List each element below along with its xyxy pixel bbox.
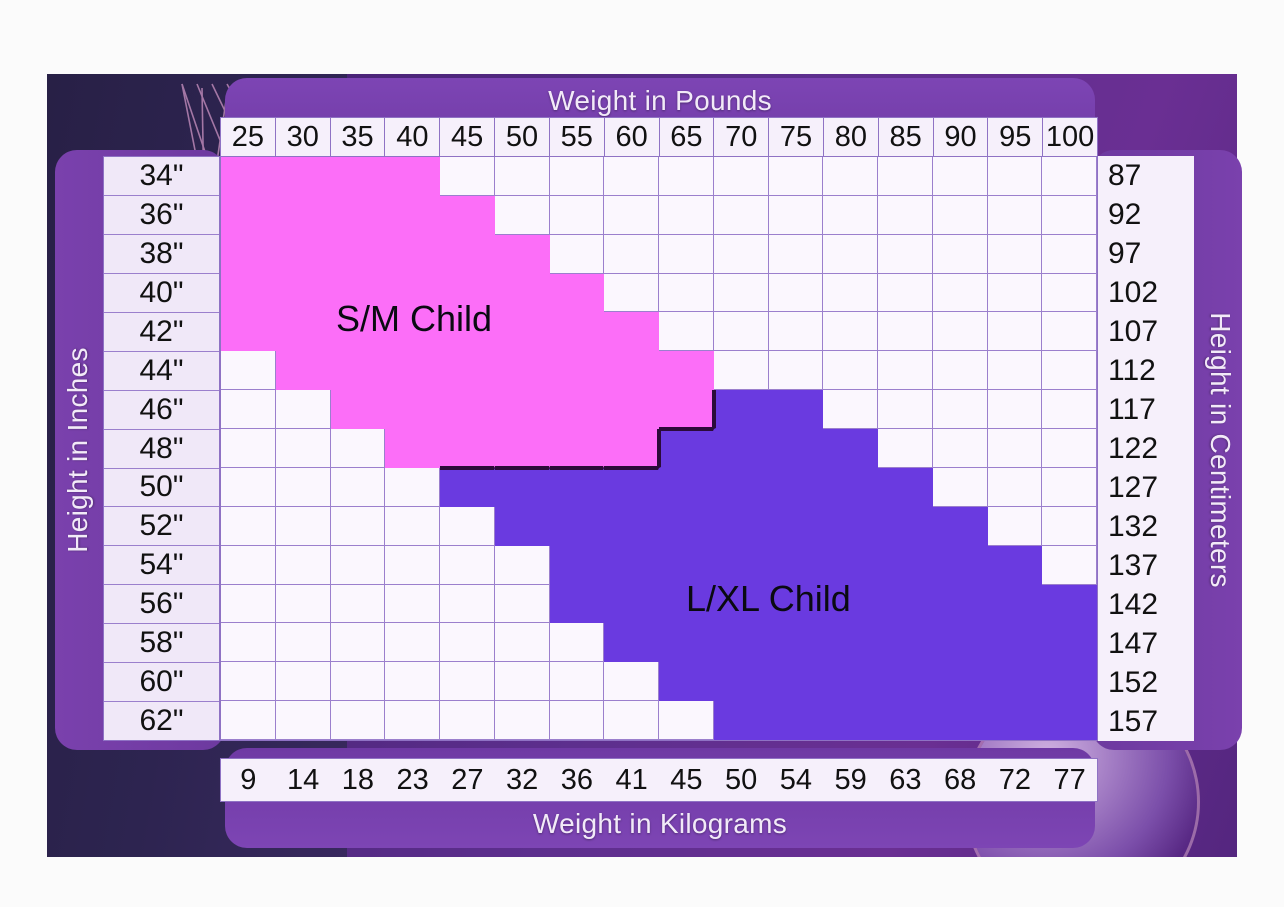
grid-cell-empty xyxy=(331,662,386,701)
bottom-axis-title: Weight in Kilograms xyxy=(225,802,1095,846)
grid-cell-small-medium xyxy=(659,351,714,390)
grid-cell-empty xyxy=(1042,390,1097,429)
pounds-tick: 45 xyxy=(440,118,495,156)
grid-cell-empty xyxy=(769,157,824,196)
grid-cell-empty xyxy=(933,235,988,274)
grid-cell-small-medium xyxy=(604,312,659,351)
grid-cell-small-medium xyxy=(550,274,605,313)
centimeters-tick: 122 xyxy=(1098,429,1194,468)
grid-cell-large-xlarge xyxy=(823,623,878,662)
grid-cell-large-xlarge xyxy=(823,662,878,701)
pounds-tick: 35 xyxy=(331,118,386,156)
grid-cell-empty xyxy=(714,196,769,235)
grid-cell-large-xlarge xyxy=(769,468,824,507)
grid-cell-small-medium xyxy=(221,157,276,196)
grid-cell-large-xlarge xyxy=(604,507,659,546)
grid-cell-large-xlarge xyxy=(659,585,714,624)
grid-cell-large-xlarge xyxy=(988,623,1043,662)
grid-cell-empty xyxy=(440,585,495,624)
grid-cell-large-xlarge xyxy=(714,468,769,507)
grid-cell-small-medium xyxy=(495,274,550,313)
grid-cell-empty xyxy=(276,390,331,429)
pounds-tick: 50 xyxy=(495,118,550,156)
inches-tick: 44" xyxy=(104,352,219,391)
grid-cell-empty xyxy=(659,701,714,740)
grid-cell-empty xyxy=(440,507,495,546)
grid-cell-small-medium xyxy=(440,274,495,313)
grid-cell-empty xyxy=(823,390,878,429)
grid-cell-empty xyxy=(440,157,495,196)
grid-cell-large-xlarge xyxy=(823,429,878,468)
grid-cell-empty xyxy=(823,235,878,274)
grid-cell-empty xyxy=(1042,235,1097,274)
kilograms-tick: 41 xyxy=(604,759,659,801)
centimeters-tick: 147 xyxy=(1098,624,1194,663)
grid-cell-large-xlarge xyxy=(988,546,1043,585)
grid-cell-small-medium xyxy=(440,312,495,351)
grid-cell-large-xlarge xyxy=(714,546,769,585)
grid-cell-empty xyxy=(276,507,331,546)
grid-cell-empty xyxy=(331,546,386,585)
grid-cell-large-xlarge xyxy=(878,507,933,546)
grid-cell-empty xyxy=(550,196,605,235)
grid-cell-empty xyxy=(878,235,933,274)
centimeters-tick: 102 xyxy=(1098,273,1194,312)
grid-cell-empty xyxy=(276,662,331,701)
right-axis-title: Height in Centimeters xyxy=(1200,230,1240,670)
grid-cell-empty xyxy=(385,662,440,701)
grid-cell-empty xyxy=(988,196,1043,235)
grid-cell-empty xyxy=(550,701,605,740)
grid-cell-empty xyxy=(1042,546,1097,585)
grid-cell-large-xlarge xyxy=(878,623,933,662)
grid-cell-large-xlarge xyxy=(604,623,659,662)
grid-cell-small-medium xyxy=(495,390,550,429)
grid-cell-empty xyxy=(1042,468,1097,507)
grid-cell-small-medium xyxy=(385,351,440,390)
grid-cell-small-medium xyxy=(604,390,659,429)
kilograms-tick: 27 xyxy=(440,759,495,801)
grid-cell-empty xyxy=(221,623,276,662)
inches-tick: 38" xyxy=(104,235,219,274)
grid-cell-large-xlarge xyxy=(659,662,714,701)
grid-cell-empty xyxy=(714,312,769,351)
grid-cell-large-xlarge xyxy=(769,701,824,740)
grid-cell-small-medium xyxy=(385,312,440,351)
grid-cell-empty xyxy=(440,662,495,701)
pounds-tick: 40 xyxy=(385,118,440,156)
pounds-tick: 60 xyxy=(605,118,660,156)
kilograms-footer-row: 9141823273236414550545963687277 xyxy=(220,758,1098,802)
grid-cell-small-medium xyxy=(276,351,331,390)
grid-cell-small-medium xyxy=(604,429,659,468)
grid-cell-empty xyxy=(823,351,878,390)
grid-cell-empty xyxy=(495,585,550,624)
pounds-tick: 55 xyxy=(550,118,605,156)
grid-cell-small-medium xyxy=(495,351,550,390)
grid-cell-large-xlarge xyxy=(823,507,878,546)
kilograms-tick: 14 xyxy=(276,759,331,801)
grid-cell-empty xyxy=(933,157,988,196)
grid-cell-empty xyxy=(823,157,878,196)
grid-cell-empty xyxy=(1042,196,1097,235)
grid-cell-large-xlarge xyxy=(714,701,769,740)
grid-cell-large-xlarge xyxy=(714,662,769,701)
grid-cell-empty xyxy=(440,623,495,662)
inches-tick: 56" xyxy=(104,585,219,624)
grid-cell-small-medium xyxy=(276,274,331,313)
grid-cell-large-xlarge xyxy=(769,585,824,624)
grid-cell-large-xlarge xyxy=(604,468,659,507)
grid-cell-empty xyxy=(385,623,440,662)
grid-cell-large-xlarge xyxy=(659,468,714,507)
grid-cell-large-xlarge xyxy=(714,623,769,662)
pounds-tick: 80 xyxy=(824,118,879,156)
inches-tick: 40" xyxy=(104,274,219,313)
grid-cell-small-medium xyxy=(440,235,495,274)
grid-cell-empty xyxy=(878,429,933,468)
grid-cell-empty xyxy=(659,274,714,313)
grid-cell-empty xyxy=(331,429,386,468)
grid-cell-large-xlarge xyxy=(933,623,988,662)
grid-cell-empty xyxy=(988,468,1043,507)
grid-cell-empty xyxy=(385,585,440,624)
kilograms-tick: 72 xyxy=(988,759,1043,801)
inches-tick: 50" xyxy=(104,469,219,508)
centimeters-tick: 152 xyxy=(1098,663,1194,702)
grid-cell-large-xlarge xyxy=(988,585,1043,624)
grid-cell-large-xlarge xyxy=(769,546,824,585)
grid-cell-large-xlarge xyxy=(659,623,714,662)
grid-cell-empty xyxy=(659,196,714,235)
grid-cell-large-xlarge xyxy=(550,585,605,624)
centimeters-tick: 87 xyxy=(1098,156,1194,195)
grid-cell-small-medium xyxy=(385,390,440,429)
grid-cell-small-medium xyxy=(331,351,386,390)
grid-cell-empty xyxy=(933,351,988,390)
grid-cell-empty xyxy=(714,235,769,274)
centimeters-tick: 97 xyxy=(1098,234,1194,273)
grid-cell-large-xlarge xyxy=(878,468,933,507)
grid-cell-large-xlarge xyxy=(604,585,659,624)
inches-tick: 48" xyxy=(104,430,219,469)
grid-cell-empty xyxy=(221,429,276,468)
centimeters-tick: 137 xyxy=(1098,546,1194,585)
grid-cell-small-medium xyxy=(440,196,495,235)
grid-cell-empty xyxy=(1042,351,1097,390)
grid-cell-empty xyxy=(659,157,714,196)
grid-cell-large-xlarge xyxy=(659,546,714,585)
kilograms-tick: 68 xyxy=(933,759,988,801)
grid-cell-empty xyxy=(385,507,440,546)
grid-cell-empty xyxy=(769,351,824,390)
grid-cell-empty xyxy=(878,390,933,429)
inches-tick: 54" xyxy=(104,546,219,585)
grid-cell-empty xyxy=(1042,312,1097,351)
grid-cell-empty xyxy=(1042,157,1097,196)
grid-cell-small-medium xyxy=(550,312,605,351)
grid-cell-empty xyxy=(495,701,550,740)
grid-cell-small-medium xyxy=(385,157,440,196)
grid-cell-large-xlarge xyxy=(1042,585,1097,624)
pounds-tick: 85 xyxy=(879,118,934,156)
grid-cell-empty xyxy=(221,507,276,546)
grid-cell-empty xyxy=(988,351,1043,390)
centimeters-tick: 112 xyxy=(1098,351,1194,390)
grid-cell-empty xyxy=(878,274,933,313)
grid-cell-empty xyxy=(495,662,550,701)
grid-cell-large-xlarge xyxy=(495,507,550,546)
grid-cell-small-medium xyxy=(495,312,550,351)
grid-cell-empty xyxy=(385,701,440,740)
grid-cell-empty xyxy=(659,235,714,274)
grid-cell-large-xlarge xyxy=(1042,701,1097,740)
grid-cell-empty xyxy=(495,157,550,196)
grid-cell-large-xlarge xyxy=(550,507,605,546)
grid-cell-empty xyxy=(604,157,659,196)
grid-cell-empty xyxy=(878,351,933,390)
kilograms-tick: 9 xyxy=(221,759,276,801)
grid-cell-empty xyxy=(769,312,824,351)
pounds-tick: 70 xyxy=(714,118,769,156)
grid-cell-small-medium xyxy=(276,235,331,274)
grid-cell-small-medium xyxy=(331,235,386,274)
grid-cell-large-xlarge xyxy=(769,429,824,468)
grid-cell-empty xyxy=(988,390,1043,429)
grid-cell-empty xyxy=(276,623,331,662)
grid-cell-large-xlarge xyxy=(659,507,714,546)
grid-cell-small-medium xyxy=(331,312,386,351)
centimeters-tick: 117 xyxy=(1098,390,1194,429)
grid-cell-empty xyxy=(988,507,1043,546)
grid-cell-large-xlarge xyxy=(604,546,659,585)
grid-cell-empty xyxy=(495,623,550,662)
pounds-header-row: 253035404550556065707580859095100 xyxy=(220,117,1098,157)
pounds-tick: 65 xyxy=(660,118,715,156)
inches-tick: 36" xyxy=(104,196,219,235)
grid-cell-empty xyxy=(988,312,1043,351)
grid-cell-empty xyxy=(988,429,1043,468)
pounds-tick: 95 xyxy=(988,118,1043,156)
grid-cell-empty xyxy=(1042,507,1097,546)
grid-cell-empty xyxy=(604,274,659,313)
grid-cell-empty xyxy=(276,585,331,624)
grid-cell-empty xyxy=(550,157,605,196)
grid-cell-empty xyxy=(385,546,440,585)
grid-cell-small-medium xyxy=(385,274,440,313)
kilograms-tick: 32 xyxy=(495,759,550,801)
grid-cell-large-xlarge xyxy=(878,701,933,740)
grid-cell-empty xyxy=(714,157,769,196)
grid-cell-empty xyxy=(1042,274,1097,313)
grid-cell-empty xyxy=(769,235,824,274)
pounds-tick: 75 xyxy=(769,118,824,156)
grid-cell-large-xlarge xyxy=(769,390,824,429)
grid-cell-empty xyxy=(550,662,605,701)
grid-cell-large-xlarge xyxy=(550,546,605,585)
kilograms-tick: 50 xyxy=(714,759,769,801)
grid-cell-empty xyxy=(276,701,331,740)
grid-cell-large-xlarge xyxy=(933,701,988,740)
grid-cell-small-medium xyxy=(385,196,440,235)
grid-cell-small-medium xyxy=(331,196,386,235)
inches-tick: 42" xyxy=(104,313,219,352)
grid-cell-empty xyxy=(604,662,659,701)
grid-cell-empty xyxy=(440,701,495,740)
grid-cell-small-medium xyxy=(276,312,331,351)
grid-cell-empty xyxy=(221,585,276,624)
centimeters-tick: 92 xyxy=(1098,195,1194,234)
pounds-tick: 25 xyxy=(221,118,276,156)
grid-cell-small-medium xyxy=(495,429,550,468)
grid-cell-large-xlarge xyxy=(823,468,878,507)
grid-cell-empty xyxy=(221,546,276,585)
grid-cell-small-medium xyxy=(440,351,495,390)
grid-cell-empty xyxy=(221,701,276,740)
grid-cell-empty xyxy=(221,390,276,429)
grid-cell-empty xyxy=(495,196,550,235)
pounds-tick: 90 xyxy=(934,118,989,156)
grid-cell-small-medium xyxy=(550,429,605,468)
grid-cell-empty xyxy=(604,235,659,274)
grid-cell-large-xlarge xyxy=(769,507,824,546)
kilograms-tick: 54 xyxy=(769,759,824,801)
inches-tick: 34" xyxy=(104,157,219,196)
grid-cell-large-xlarge xyxy=(878,585,933,624)
grid-cell-small-medium xyxy=(221,196,276,235)
grid-cell-empty xyxy=(933,390,988,429)
grid-cell-large-xlarge xyxy=(933,585,988,624)
grid-cell-empty xyxy=(440,546,495,585)
left-axis-title: Height in Inches xyxy=(58,230,98,670)
grid-cell-empty xyxy=(823,196,878,235)
centimeters-label-column: 8792971021071121171221271321371421471521… xyxy=(1098,156,1194,741)
grid-cell-large-xlarge xyxy=(1042,623,1097,662)
grid-cell-large-xlarge xyxy=(988,662,1043,701)
grid-cell-empty xyxy=(331,623,386,662)
grid-cell-empty xyxy=(385,468,440,507)
grid-cell-large-xlarge xyxy=(823,701,878,740)
grid-cell-empty xyxy=(550,235,605,274)
pounds-tick: 30 xyxy=(276,118,331,156)
inches-tick: 58" xyxy=(104,624,219,663)
centimeters-tick: 132 xyxy=(1098,507,1194,546)
grid-cell-small-medium xyxy=(659,390,714,429)
grid-cell-empty xyxy=(331,468,386,507)
grid-cell-empty xyxy=(221,351,276,390)
grid-cell-small-medium xyxy=(550,390,605,429)
grid-cell-small-medium xyxy=(221,312,276,351)
grid-cell-large-xlarge xyxy=(988,701,1043,740)
grid-cell-large-xlarge xyxy=(659,429,714,468)
grid-cell-small-medium xyxy=(276,157,331,196)
grid-cell-empty xyxy=(933,468,988,507)
grid-cell-small-medium xyxy=(221,235,276,274)
grid-cell-small-medium xyxy=(331,157,386,196)
grid-cell-empty xyxy=(331,507,386,546)
grid-cell-large-xlarge xyxy=(933,546,988,585)
grid-cell-empty xyxy=(659,312,714,351)
grid-cell-empty xyxy=(714,274,769,313)
pounds-tick: 100 xyxy=(1043,118,1097,156)
grid-cell-large-xlarge xyxy=(714,429,769,468)
grid-cell-empty xyxy=(221,662,276,701)
grid-cell-large-xlarge xyxy=(714,390,769,429)
kilograms-tick: 36 xyxy=(550,759,605,801)
grid-cell-empty xyxy=(276,468,331,507)
inches-label-column: 34"36"38"40"42"44"46"48"50"52"54"56"58"6… xyxy=(103,156,220,741)
grid-cell-large-xlarge xyxy=(495,468,550,507)
grid-cell-empty xyxy=(714,351,769,390)
grid-cell-small-medium xyxy=(440,429,495,468)
grid-cell-empty xyxy=(276,429,331,468)
centimeters-tick: 142 xyxy=(1098,585,1194,624)
grid-cell-large-xlarge xyxy=(714,585,769,624)
grid-cell-small-medium xyxy=(550,351,605,390)
grid-cell-small-medium xyxy=(440,390,495,429)
grid-cell-empty xyxy=(823,312,878,351)
grid-cell-large-xlarge xyxy=(714,507,769,546)
grid-cell-empty xyxy=(331,701,386,740)
grid-cell-empty xyxy=(221,468,276,507)
grid-cell-small-medium xyxy=(385,429,440,468)
grid-cell-large-xlarge xyxy=(769,623,824,662)
grid-cell-large-xlarge xyxy=(769,662,824,701)
kilograms-tick: 45 xyxy=(659,759,714,801)
grid-cell-empty xyxy=(550,623,605,662)
grid-cell-empty xyxy=(933,312,988,351)
grid-cell-large-xlarge xyxy=(878,662,933,701)
kilograms-tick: 77 xyxy=(1042,759,1097,801)
grid-cell-large-xlarge xyxy=(440,468,495,507)
grid-cell-empty xyxy=(769,196,824,235)
inches-tick: 46" xyxy=(104,391,219,430)
kilograms-tick: 18 xyxy=(331,759,386,801)
grid-cell-empty xyxy=(933,196,988,235)
grid-cell-empty xyxy=(495,546,550,585)
centimeters-tick: 157 xyxy=(1098,702,1194,741)
inches-tick: 62" xyxy=(104,702,219,740)
size-chart-image: Weight in Pounds Weight in Kilograms Hei… xyxy=(0,0,1284,907)
kilograms-tick: 59 xyxy=(823,759,878,801)
grid-cell-empty xyxy=(604,196,659,235)
grid-cell-empty xyxy=(988,274,1043,313)
grid-cell-large-xlarge xyxy=(550,468,605,507)
grid-cell-empty xyxy=(878,312,933,351)
grid-cell-small-medium xyxy=(276,196,331,235)
grid-cell-large-xlarge xyxy=(1042,662,1097,701)
grid-cell-empty xyxy=(988,157,1043,196)
inches-tick: 52" xyxy=(104,507,219,546)
grid-cell-large-xlarge xyxy=(933,662,988,701)
grid-cell-small-medium xyxy=(331,390,386,429)
grid-cell-large-xlarge xyxy=(823,546,878,585)
grid-cell-small-medium xyxy=(604,351,659,390)
grid-cell-empty xyxy=(769,274,824,313)
grid-cell-small-medium xyxy=(221,274,276,313)
centimeters-tick: 127 xyxy=(1098,468,1194,507)
grid-cell-empty xyxy=(933,274,988,313)
centimeters-tick: 107 xyxy=(1098,312,1194,351)
grid-cell-empty xyxy=(276,546,331,585)
grid-cell-empty xyxy=(1042,429,1097,468)
grid-cell-large-xlarge xyxy=(823,585,878,624)
inches-tick: 60" xyxy=(104,663,219,702)
grid-cell-large-xlarge xyxy=(878,546,933,585)
grid-cell-small-medium xyxy=(385,235,440,274)
grid-cell-small-medium xyxy=(495,235,550,274)
grid-cell-empty xyxy=(878,157,933,196)
